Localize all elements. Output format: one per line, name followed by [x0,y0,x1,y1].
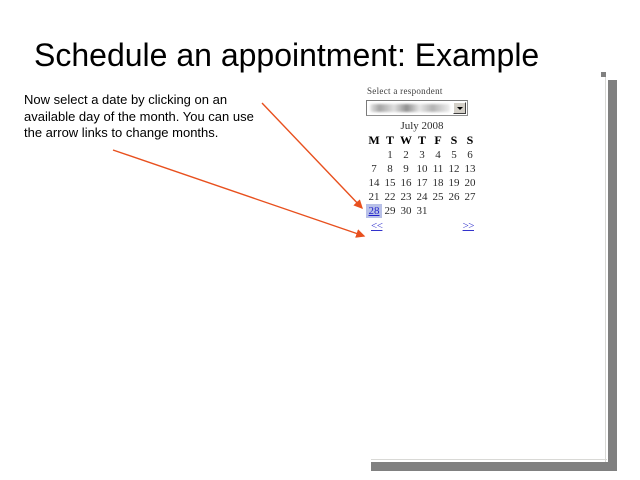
day-cell: 10 [414,162,430,176]
slide-shadow-right [608,80,617,463]
chevron-down-glyph [457,107,463,110]
slide-canvas: Schedule an appointment: Example Now sel… [0,0,640,480]
day-cell: 22 [382,190,398,204]
day-cell: 20 [462,176,478,190]
day-cell: 31 [414,204,430,218]
respondent-label: Select a respondent [367,86,478,96]
day-cell: 26 [446,190,462,204]
next-month-link[interactable]: >> [463,220,474,232]
day-cell: 29 [382,204,398,218]
weekday-header-thu: T [414,133,430,148]
weekday-header-fri: F [430,133,446,148]
day-cell: 12 [446,162,462,176]
weekday-header-wed: W [398,133,414,148]
instruction-text: Now select a date by clicking on an avai… [24,92,268,142]
day-cell: 24 [414,190,430,204]
respondent-selected-value [370,104,450,112]
weekday-header-sun: S [462,133,478,148]
day-cell: 13 [462,162,478,176]
day-cell: 25 [430,190,446,204]
day-cell: 3 [414,148,430,162]
day-cell: 21 [366,190,382,204]
day-cell [446,204,462,218]
day-cell: 23 [398,190,414,204]
chevron-down-icon[interactable] [453,102,466,114]
weekday-header-tue: T [382,133,398,148]
day-cell: 11 [430,162,446,176]
day-cell: 19 [446,176,462,190]
day-cell: 27 [462,190,478,204]
day-cell: 14 [366,176,382,190]
respondent-select[interactable] [366,100,468,116]
prev-month-link[interactable]: << [371,220,382,232]
calendar-header-row: M T W T F S S [366,133,478,148]
day-cell: 15 [382,176,398,190]
day-cell: 7 [366,162,382,176]
day-cell: 8 [382,162,398,176]
calendar-week-row: 1 2 3 4 5 6 [366,148,478,162]
day-cell: 5 [446,148,462,162]
day-cell [366,148,382,162]
day-cell: 9 [398,162,414,176]
calendar-widget: Select a respondent July 2008 M T W T F … [366,86,478,234]
day-cell [462,204,478,218]
day-cell: 4 [430,148,446,162]
slide-shadow-bottom [371,462,617,471]
slide-frame-right-edge [605,76,606,464]
day-cell: 2 [398,148,414,162]
weekday-header-sat: S [446,133,462,148]
calendar-week-row: 14 15 16 17 18 19 20 [366,176,478,190]
day-cell: 30 [398,204,414,218]
arrow-to-day-cell [262,103,362,208]
slide-frame-bottom-edge [371,459,607,460]
weekday-header-mon: M [366,133,382,148]
day-cell: 1 [382,148,398,162]
calendar-week-row: 21 22 23 24 25 26 27 [366,190,478,204]
day-cell: 16 [398,176,414,190]
page-title: Schedule an appointment: Example [34,36,614,74]
day-cell: 6 [462,148,478,162]
calendar-week-row: 7 8 9 10 11 12 13 [366,162,478,176]
day-cell: 18 [430,176,446,190]
day-cell: 17 [414,176,430,190]
calendar-week-row: 28 29 30 31 [366,204,478,218]
calendar-table: M T W T F S S 1 2 3 4 5 6 [366,133,478,218]
arrow-to-month-nav [113,150,364,236]
calendar-nav: << >> [366,220,478,234]
calendar-month-title: July 2008 [366,120,478,132]
day-link-28[interactable]: 28 [369,205,380,217]
day-cell [430,204,446,218]
day-cell-selected[interactable]: 28 [366,204,382,218]
